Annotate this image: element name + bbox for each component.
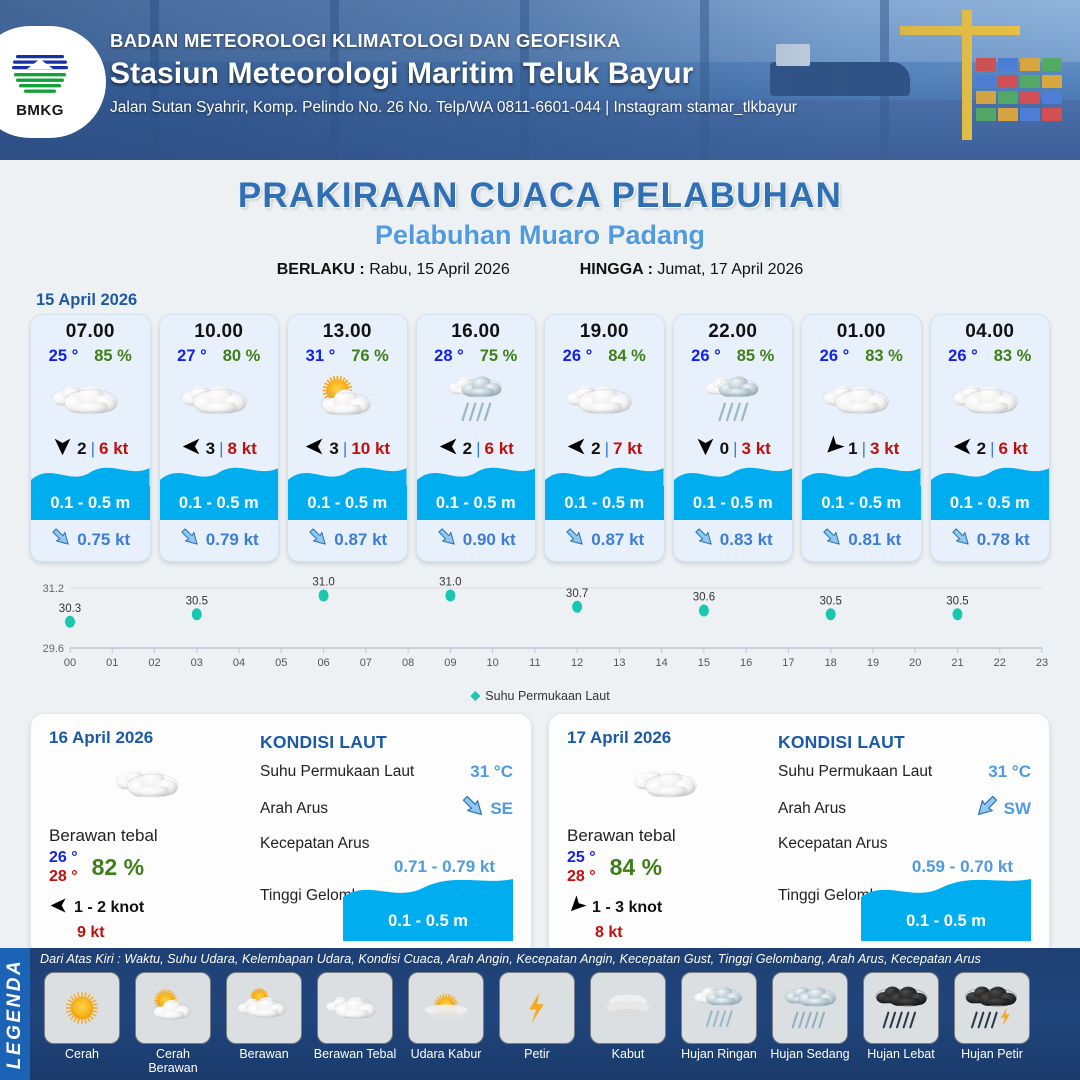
sst-value: 31 °C bbox=[470, 762, 513, 782]
current-speed-value: 0.71 - 0.79 kt bbox=[260, 857, 513, 877]
card-temp-hum-row: 26 ° 83 % bbox=[931, 347, 1050, 366]
legend-cerah-berawan-icon bbox=[135, 972, 211, 1044]
current-speed-label: Kecepatan Arus bbox=[260, 835, 513, 853]
card-weather-berawan-tebal-icon bbox=[931, 368, 1050, 432]
card-current-speed: 0.83 kt bbox=[720, 530, 773, 550]
card-wind-speed: 2 bbox=[591, 439, 600, 459]
current-direction-value-group: SE bbox=[460, 793, 513, 824]
current-direction-arrow-icon bbox=[179, 526, 201, 553]
legend-side-title-text: LEGENDA bbox=[4, 959, 26, 1069]
legend-berawan-icon bbox=[226, 972, 302, 1044]
legend-item: Berawan Tebal bbox=[313, 972, 397, 1075]
card-wind-row: 2 | 7 kt bbox=[545, 432, 664, 466]
wind-direction-arrow-icon bbox=[566, 436, 587, 462]
wind-direction-arrow-icon bbox=[49, 896, 68, 920]
card-temp-hum-row: 26 ° 84 % bbox=[545, 347, 664, 366]
card-weather-berawan-tebal-icon bbox=[31, 368, 150, 432]
card-weather-cerah-berawan-icon bbox=[288, 368, 407, 432]
svg-text:14: 14 bbox=[656, 657, 668, 669]
card-wind-separator: | bbox=[862, 439, 866, 459]
panel-condition: Berawan tebal bbox=[567, 826, 772, 846]
bmkg-logo-icon bbox=[10, 46, 70, 100]
chart-legend-label: Suhu Permukaan Laut bbox=[485, 689, 609, 703]
legend-item-label: Berawan Tebal bbox=[313, 1047, 397, 1061]
svg-text:05: 05 bbox=[275, 657, 287, 669]
sea-condition-title: KONDISI LAUT bbox=[778, 732, 1031, 753]
card-gust: 10 kt bbox=[351, 439, 390, 459]
sst-row: Suhu Permukaan Laut 31 °C bbox=[778, 762, 1031, 782]
forecast-card[interactable]: 01.00 26 ° 83 % bbox=[801, 314, 922, 562]
page-header: BMKG BADAN METEOROLOGI KLIMATOLOGI DAN G… bbox=[0, 0, 1080, 160]
legend-item: Petir bbox=[495, 972, 579, 1075]
sst-row: Suhu Permukaan Laut 31 °C bbox=[260, 762, 513, 782]
panel-wave-block: 0.1 - 0.5 m bbox=[861, 879, 1031, 941]
sea-condition-title: KONDISI LAUT bbox=[260, 732, 513, 753]
current-direction-label: Arah Arus bbox=[778, 800, 846, 818]
card-time: 13.00 bbox=[288, 321, 407, 343]
card-wave-height: 0.1 - 0.5 m bbox=[417, 486, 536, 520]
svg-text:08: 08 bbox=[402, 657, 414, 669]
card-wave-block: 0.1 - 0.5 m bbox=[288, 468, 407, 528]
station-name: Stasiun Meteorologi Maritim Teluk Bayur bbox=[110, 57, 797, 91]
card-temp-hum-row: 25 ° 85 % bbox=[31, 347, 150, 366]
chart-legend-marker-icon bbox=[470, 691, 480, 701]
card-wind-row: 2 | 6 kt bbox=[417, 432, 536, 466]
card-wind-speed: 2 bbox=[463, 439, 472, 459]
wind-direction-arrow-icon bbox=[567, 896, 586, 920]
card-weather-berawan-tebal-icon bbox=[545, 368, 664, 432]
current-direction-arrow-icon bbox=[974, 793, 1000, 824]
legend-berawan-tebal-icon bbox=[317, 972, 393, 1044]
card-humidity: 76 % bbox=[351, 347, 389, 366]
bmkg-logo-label: BMKG bbox=[16, 102, 64, 119]
card-wind-row: 2 | 6 kt bbox=[931, 432, 1050, 466]
panel-left: 17 April 2026 Berawan tebal 25 bbox=[567, 728, 772, 943]
svg-text:31.0: 31.0 bbox=[439, 577, 461, 589]
legend-item-label: Hujan Ringan bbox=[677, 1047, 761, 1061]
card-temp-hum-row: 31 ° 76 % bbox=[288, 347, 407, 366]
legend-item: Cerah Berawan bbox=[131, 972, 215, 1075]
card-gust: 6 kt bbox=[99, 439, 128, 459]
card-time: 19.00 bbox=[545, 321, 664, 343]
svg-text:00: 00 bbox=[64, 657, 76, 669]
svg-text:02: 02 bbox=[148, 657, 160, 669]
panel-temps-row: 25 ° 28 ° 84 % bbox=[567, 849, 772, 886]
current-direction-arrow-icon bbox=[693, 526, 715, 553]
svg-text:11: 11 bbox=[529, 657, 540, 669]
svg-text:30.5: 30.5 bbox=[186, 595, 208, 607]
card-wind-separator: | bbox=[91, 439, 95, 459]
forecast-card[interactable]: 07.00 25 ° 85 % bbox=[30, 314, 151, 562]
title-block: PRAKIRAAN CUACA PELABUHAN Pelabuhan Muar… bbox=[0, 176, 1080, 279]
legend-item-label: Cerah Berawan bbox=[131, 1047, 215, 1075]
svg-text:15: 15 bbox=[698, 657, 710, 669]
card-temperature: 27 ° bbox=[177, 347, 207, 366]
sst-chart-svg: 31.229.600010203040506070809101112131415… bbox=[28, 576, 1052, 681]
card-humidity: 84 % bbox=[608, 347, 646, 366]
card-current-speed: 0.90 kt bbox=[463, 530, 516, 550]
card-temp-hum-row: 26 ° 83 % bbox=[802, 347, 921, 366]
current-direction-arrow-icon bbox=[564, 526, 586, 553]
card-wind-row: 3 | 10 kt bbox=[288, 432, 407, 466]
panel-weather-berawan-tebal-icon bbox=[49, 754, 254, 814]
panel-temp-group: 25 ° 28 ° bbox=[567, 849, 596, 886]
card-current-row: 0.87 kt bbox=[288, 526, 407, 561]
card-time: 04.00 bbox=[931, 321, 1050, 343]
svg-text:21: 21 bbox=[951, 657, 963, 669]
card-wind-speed: 2 bbox=[977, 439, 986, 459]
card-wind-speed: 2 bbox=[77, 439, 86, 459]
card-current-row: 0.83 kt bbox=[674, 526, 793, 561]
daily-forecast-panel[interactable]: 17 April 2026 Berawan tebal 25 bbox=[548, 713, 1050, 958]
hingga-value: Jumat, 17 April 2026 bbox=[657, 261, 803, 278]
card-weather-hujan-ringan-icon bbox=[417, 368, 536, 432]
forecast-day-label: 15 April 2026 bbox=[36, 291, 1080, 310]
sst-label: Suhu Permukaan Laut bbox=[260, 763, 414, 781]
wind-direction-arrow-icon bbox=[304, 436, 325, 462]
card-wave-height: 0.1 - 0.5 m bbox=[674, 486, 793, 520]
wind-direction-arrow-icon bbox=[823, 436, 844, 462]
forecast-card[interactable]: 19.00 26 ° 84 % bbox=[544, 314, 665, 562]
card-humidity: 83 % bbox=[865, 347, 903, 366]
card-wind-row: 0 | 3 kt bbox=[674, 432, 793, 466]
panel-temp-min: 25 ° bbox=[567, 849, 596, 867]
card-gust: 7 kt bbox=[613, 439, 642, 459]
svg-text:30.5: 30.5 bbox=[820, 595, 842, 607]
contact-info: Jalan Sutan Syahrir, Komp. Pelindo No. 2… bbox=[110, 99, 797, 117]
legend-item: Cerah bbox=[40, 972, 124, 1075]
current-speed-row: Kecepatan Arus 0.71 - 0.79 kt bbox=[260, 835, 513, 877]
card-current-row: 0.81 kt bbox=[802, 526, 921, 561]
svg-text:30.7: 30.7 bbox=[566, 588, 588, 600]
card-temperature: 26 ° bbox=[948, 347, 978, 366]
card-current-row: 0.78 kt bbox=[931, 526, 1050, 561]
panel-wave-height: 0.1 - 0.5 m bbox=[343, 901, 513, 941]
legend-item: Kabut bbox=[586, 972, 670, 1075]
hourly-forecast-row: 07.00 25 ° 85 % bbox=[0, 314, 1080, 562]
card-gust: 8 kt bbox=[228, 439, 257, 459]
svg-text:03: 03 bbox=[191, 657, 203, 669]
card-gust: 3 kt bbox=[742, 439, 771, 459]
legend-kabut-icon bbox=[590, 972, 666, 1044]
card-time: 22.00 bbox=[674, 321, 793, 343]
current-direction-row: Arah Arus SE bbox=[260, 793, 513, 824]
card-wind-speed: 3 bbox=[329, 439, 338, 459]
panel-wind-range: 1 - 2 knot bbox=[74, 899, 144, 917]
card-humidity: 80 % bbox=[223, 347, 261, 366]
header-text-block: BADAN METEOROLOGI KLIMATOLOGI DAN GEOFIS… bbox=[110, 30, 797, 117]
current-direction-label: Arah Arus bbox=[260, 800, 328, 818]
panel-gust: 8 kt bbox=[595, 924, 772, 942]
agency-name: BADAN METEOROLOGI KLIMATOLOGI DAN GEOFIS… bbox=[110, 30, 797, 52]
legend-item: Udara Kabur bbox=[404, 972, 488, 1075]
svg-text:10: 10 bbox=[486, 657, 498, 669]
panel-gust: 9 kt bbox=[77, 924, 254, 942]
svg-text:22: 22 bbox=[994, 657, 1006, 669]
validity-row: BERLAKU : Rabu, 15 April 2026 HINGGA : J… bbox=[0, 261, 1080, 279]
legend-hujan-sedang-icon bbox=[772, 972, 848, 1044]
legend-item-label: Kabut bbox=[586, 1047, 670, 1061]
svg-text:17: 17 bbox=[782, 657, 794, 669]
panel-date: 16 April 2026 bbox=[49, 728, 254, 748]
svg-text:30.3: 30.3 bbox=[59, 603, 81, 615]
legend-item-label: Hujan Lebat bbox=[859, 1047, 943, 1061]
card-wind-row: 1 | 3 kt bbox=[802, 432, 921, 466]
card-wave-block: 0.1 - 0.5 m bbox=[417, 468, 536, 528]
panel-temp-max: 28 ° bbox=[567, 868, 596, 886]
card-wind-speed: 0 bbox=[720, 439, 729, 459]
legend-item-label: Cerah bbox=[40, 1047, 124, 1061]
card-wave-block: 0.1 - 0.5 m bbox=[931, 468, 1050, 528]
wind-direction-arrow-icon bbox=[695, 436, 716, 462]
daily-forecast-panels: 16 April 2026 Berawan tebal 26 bbox=[0, 703, 1080, 958]
page-subtitle: Pelabuhan Muaro Padang bbox=[0, 220, 1080, 251]
page-title: PRAKIRAAN CUACA PELABUHAN bbox=[0, 176, 1080, 216]
wind-direction-arrow-icon bbox=[952, 436, 973, 462]
current-direction-value: SW bbox=[1004, 799, 1031, 819]
panel-temp-max: 28 ° bbox=[49, 868, 78, 886]
svg-text:07: 07 bbox=[360, 657, 372, 669]
card-temperature: 26 ° bbox=[820, 347, 850, 366]
card-wind-separator: | bbox=[733, 439, 737, 459]
legend-note: Dari Atas Kiri : Waktu, Suhu Udara, Kele… bbox=[40, 952, 1072, 966]
legend-content: Dari Atas Kiri : Waktu, Suhu Udara, Kele… bbox=[30, 948, 1080, 1080]
card-wave-block: 0.1 - 0.5 m bbox=[802, 468, 921, 528]
card-humidity: 83 % bbox=[994, 347, 1032, 366]
forecast-card[interactable]: 16.00 28 ° 75 % bbox=[416, 314, 537, 562]
card-current-row: 0.87 kt bbox=[545, 526, 664, 561]
card-time: 07.00 bbox=[31, 321, 150, 343]
card-current-row: 0.75 kt bbox=[31, 526, 150, 561]
card-current-speed: 0.87 kt bbox=[334, 530, 387, 550]
forecast-card[interactable]: 13.00 31 ° 76 % 3 | 10 kt bbox=[287, 314, 408, 562]
legend-hujan-lebat-icon bbox=[863, 972, 939, 1044]
panel-weather-berawan-tebal-icon bbox=[567, 754, 772, 814]
card-gust: 6 kt bbox=[999, 439, 1028, 459]
card-weather-hujan-ringan-icon bbox=[674, 368, 793, 432]
card-wind-separator: | bbox=[343, 439, 347, 459]
svg-text:09: 09 bbox=[444, 657, 456, 669]
wind-direction-arrow-icon bbox=[52, 436, 73, 462]
hingga-group: HINGGA : Jumat, 17 April 2026 bbox=[580, 261, 804, 279]
svg-text:19: 19 bbox=[867, 657, 879, 669]
legend-item: Hujan Petir bbox=[950, 972, 1034, 1075]
panel-humidity: 84 % bbox=[610, 854, 662, 881]
panel-right: KONDISI LAUT Suhu Permukaan Laut 31 °C A… bbox=[772, 728, 1031, 943]
legend-bar: LEGENDA Dari Atas Kiri : Waktu, Suhu Uda… bbox=[0, 948, 1080, 1080]
legend-item-label: Udara Kabur bbox=[404, 1047, 488, 1061]
legend-petir-icon bbox=[499, 972, 575, 1044]
svg-text:16: 16 bbox=[740, 657, 752, 669]
forecast-card[interactable]: 10.00 27 ° 80 % bbox=[159, 314, 280, 562]
legend-item: Hujan Sedang bbox=[768, 972, 852, 1075]
card-humidity: 85 % bbox=[737, 347, 775, 366]
card-wave-height: 0.1 - 0.5 m bbox=[288, 486, 407, 520]
current-direction-arrow-icon bbox=[460, 793, 486, 824]
legend-hujan-petir-icon bbox=[954, 972, 1030, 1044]
legend-item-label: Hujan Sedang bbox=[768, 1047, 852, 1061]
card-weather-berawan-tebal-icon bbox=[802, 368, 921, 432]
sst-chart: 31.229.600010203040506070809101112131415… bbox=[28, 576, 1052, 686]
legend-item: Berawan bbox=[222, 972, 306, 1075]
forecast-card[interactable]: 22.00 26 ° 85 % bbox=[673, 314, 794, 562]
current-direction-arrow-icon bbox=[50, 526, 72, 553]
card-wave-block: 0.1 - 0.5 m bbox=[160, 468, 279, 528]
svg-text:30.6: 30.6 bbox=[693, 592, 715, 604]
card-humidity: 85 % bbox=[94, 347, 132, 366]
current-direction-value-group: SW bbox=[974, 793, 1031, 824]
panel-wave-block: 0.1 - 0.5 m bbox=[343, 879, 513, 941]
svg-text:13: 13 bbox=[613, 657, 625, 669]
legend-icon-list: Cerah Cerah Berawan bbox=[40, 972, 1072, 1075]
card-wind-row: 3 | 8 kt bbox=[160, 432, 279, 466]
card-wind-separator: | bbox=[219, 439, 223, 459]
daily-forecast-panel[interactable]: 16 April 2026 Berawan tebal 26 bbox=[30, 713, 532, 958]
card-wave-height: 0.1 - 0.5 m bbox=[931, 486, 1050, 520]
panel-wave-height: 0.1 - 0.5 m bbox=[861, 901, 1031, 941]
card-wind-row: 2 | 6 kt bbox=[31, 432, 150, 466]
legend-cerah-icon bbox=[44, 972, 120, 1044]
svg-text:30.5: 30.5 bbox=[946, 595, 968, 607]
card-wave-height: 0.1 - 0.5 m bbox=[160, 486, 279, 520]
current-speed-row: Kecepatan Arus 0.59 - 0.70 kt bbox=[778, 835, 1031, 877]
berlaku-group: BERLAKU : Rabu, 15 April 2026 bbox=[277, 261, 510, 279]
card-weather-berawan-tebal-icon bbox=[160, 368, 279, 432]
panel-wind-row: 1 - 3 knot bbox=[567, 896, 772, 920]
sst-value: 31 °C bbox=[988, 762, 1031, 782]
card-current-speed: 0.75 kt bbox=[77, 530, 130, 550]
berlaku-value: Rabu, 15 April 2026 bbox=[369, 261, 510, 278]
card-temp-hum-row: 27 ° 80 % bbox=[160, 347, 279, 366]
card-temperature: 28 ° bbox=[434, 347, 464, 366]
card-temperature: 26 ° bbox=[563, 347, 593, 366]
current-direction-arrow-icon bbox=[821, 526, 843, 553]
legend-item-label: Berawan bbox=[222, 1047, 306, 1061]
card-wind-speed: 1 bbox=[848, 439, 857, 459]
legend-item: Hujan Lebat bbox=[859, 972, 943, 1075]
chart-legend: Suhu Permukaan Laut bbox=[0, 689, 1080, 703]
hingga-label: HINGGA : bbox=[580, 261, 653, 278]
svg-text:18: 18 bbox=[825, 657, 837, 669]
svg-text:29.6: 29.6 bbox=[43, 643, 64, 655]
card-temp-hum-row: 28 ° 75 % bbox=[417, 347, 536, 366]
card-wave-block: 0.1 - 0.5 m bbox=[545, 468, 664, 528]
panel-left: 16 April 2026 Berawan tebal 26 bbox=[49, 728, 254, 943]
legend-udara-kabur-icon bbox=[408, 972, 484, 1044]
current-direction-value: SE bbox=[490, 799, 513, 819]
panel-temp-min: 26 ° bbox=[49, 849, 78, 867]
card-current-row: 0.90 kt bbox=[417, 526, 536, 561]
card-time: 16.00 bbox=[417, 321, 536, 343]
wind-direction-arrow-icon bbox=[181, 436, 202, 462]
card-wind-separator: | bbox=[476, 439, 480, 459]
panel-temps-row: 26 ° 28 ° 82 % bbox=[49, 849, 254, 886]
svg-text:04: 04 bbox=[233, 657, 245, 669]
card-wave-height: 0.1 - 0.5 m bbox=[545, 486, 664, 520]
card-temperature: 25 ° bbox=[49, 347, 79, 366]
card-wave-block: 0.1 - 0.5 m bbox=[674, 468, 793, 528]
card-temperature: 26 ° bbox=[691, 347, 721, 366]
panel-humidity: 82 % bbox=[92, 854, 144, 881]
svg-text:01: 01 bbox=[106, 657, 118, 669]
card-wind-separator: | bbox=[605, 439, 609, 459]
card-time: 01.00 bbox=[802, 321, 921, 343]
forecast-card[interactable]: 04.00 26 ° 83 % bbox=[930, 314, 1051, 562]
panel-wind-row: 1 - 2 knot bbox=[49, 896, 254, 920]
legend-side-title: LEGENDA bbox=[0, 948, 30, 1080]
card-time: 10.00 bbox=[160, 321, 279, 343]
card-humidity: 75 % bbox=[480, 347, 518, 366]
panel-date: 17 April 2026 bbox=[567, 728, 772, 748]
card-temperature: 31 ° bbox=[306, 347, 336, 366]
current-direction-row: Arah Arus SW bbox=[778, 793, 1031, 824]
svg-text:20: 20 bbox=[909, 657, 921, 669]
panel-condition: Berawan tebal bbox=[49, 826, 254, 846]
berlaku-label: BERLAKU : bbox=[277, 261, 365, 278]
card-current-speed: 0.78 kt bbox=[977, 530, 1030, 550]
wind-direction-arrow-icon bbox=[438, 436, 459, 462]
panel-wind-range: 1 - 3 knot bbox=[592, 899, 662, 917]
card-wind-speed: 3 bbox=[206, 439, 215, 459]
svg-text:31.2: 31.2 bbox=[43, 583, 64, 595]
svg-text:31.0: 31.0 bbox=[312, 577, 334, 589]
svg-text:12: 12 bbox=[571, 657, 583, 669]
card-wind-separator: | bbox=[990, 439, 994, 459]
panel-temp-group: 26 ° 28 ° bbox=[49, 849, 78, 886]
legend-hujan-ringan-icon bbox=[681, 972, 757, 1044]
sst-label: Suhu Permukaan Laut bbox=[778, 763, 932, 781]
card-current-speed: 0.79 kt bbox=[206, 530, 259, 550]
card-current-speed: 0.87 kt bbox=[591, 530, 644, 550]
svg-text:06: 06 bbox=[317, 657, 329, 669]
card-gust: 6 kt bbox=[485, 439, 514, 459]
card-gust: 3 kt bbox=[870, 439, 899, 459]
current-speed-label: Kecepatan Arus bbox=[778, 835, 1031, 853]
current-speed-value: 0.59 - 0.70 kt bbox=[778, 857, 1031, 877]
card-current-speed: 0.81 kt bbox=[848, 530, 901, 550]
svg-text:23: 23 bbox=[1036, 657, 1048, 669]
current-direction-arrow-icon bbox=[307, 526, 329, 553]
legend-item: Hujan Ringan bbox=[677, 972, 761, 1075]
card-wave-height: 0.1 - 0.5 m bbox=[802, 486, 921, 520]
card-wave-height: 0.1 - 0.5 m bbox=[31, 486, 150, 520]
current-direction-arrow-icon bbox=[436, 526, 458, 553]
card-current-row: 0.79 kt bbox=[160, 526, 279, 561]
card-wave-block: 0.1 - 0.5 m bbox=[31, 468, 150, 528]
legend-item-label: Hujan Petir bbox=[950, 1047, 1034, 1061]
panel-right: KONDISI LAUT Suhu Permukaan Laut 31 °C A… bbox=[254, 728, 513, 943]
legend-item-label: Petir bbox=[495, 1047, 579, 1061]
current-direction-arrow-icon bbox=[950, 526, 972, 553]
card-temp-hum-row: 26 ° 85 % bbox=[674, 347, 793, 366]
